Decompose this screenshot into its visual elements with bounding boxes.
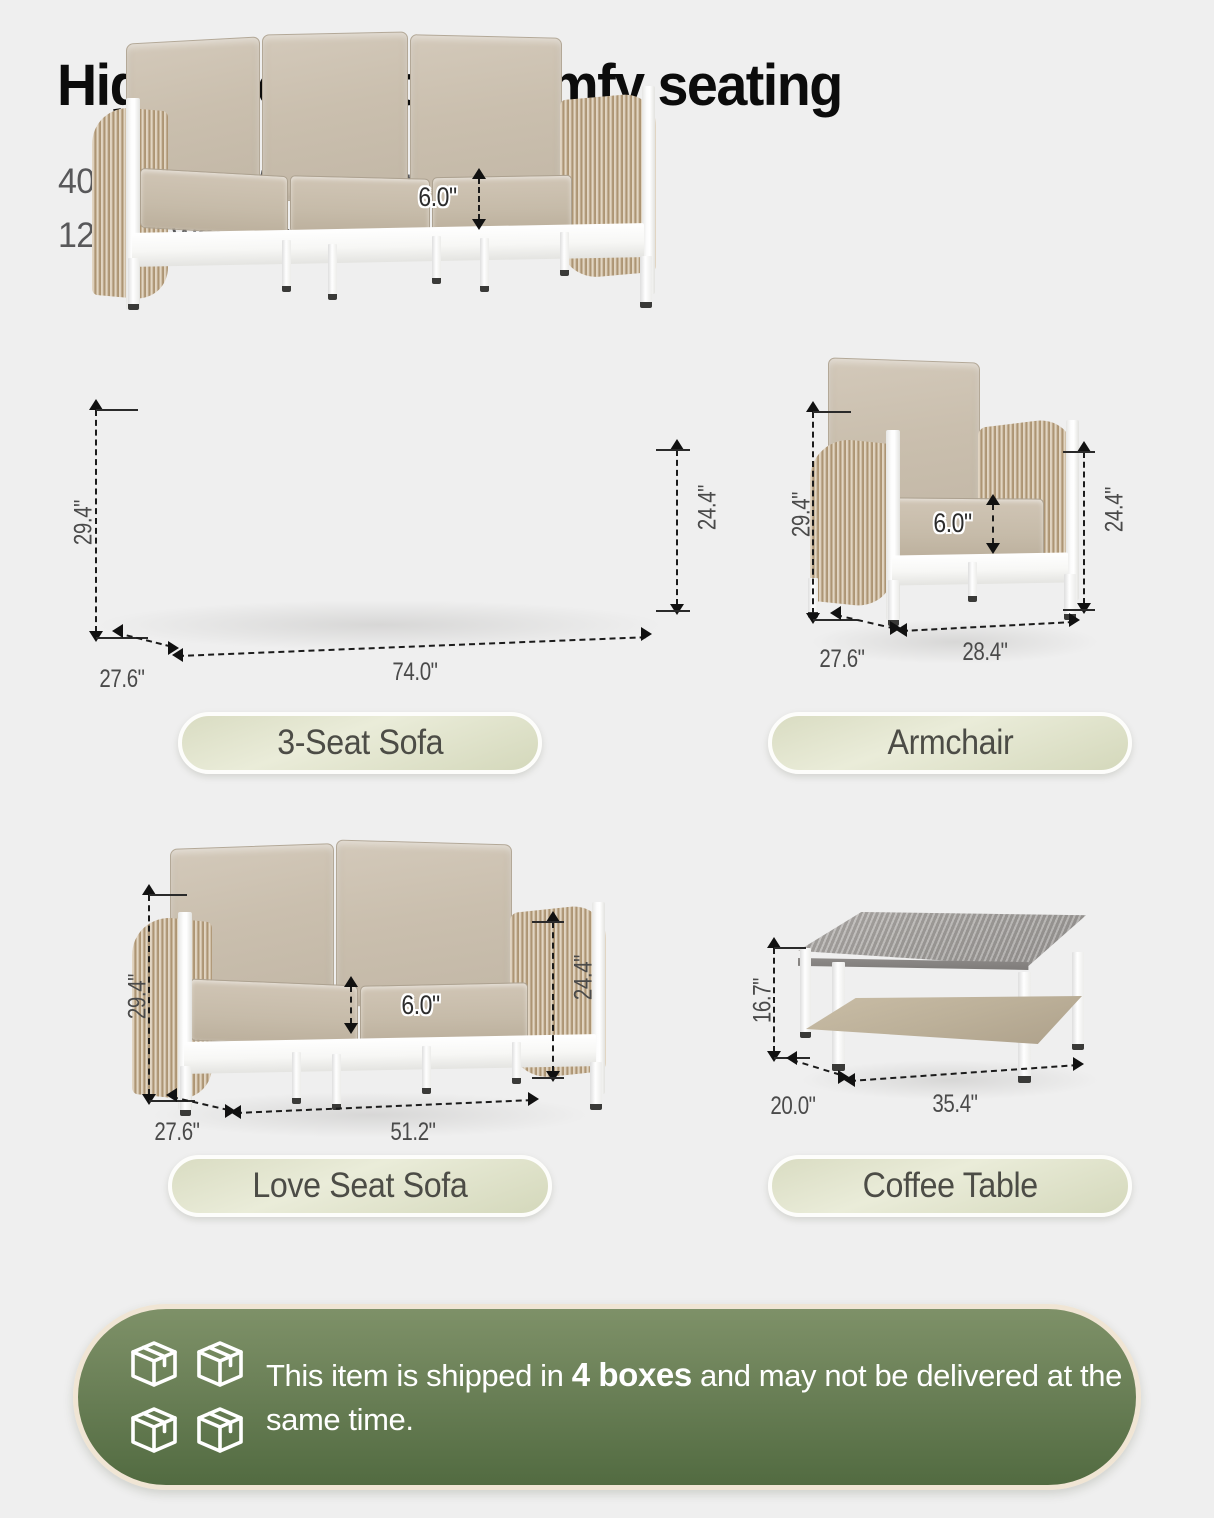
dim-depth-sofa: 27.6" <box>77 665 167 694</box>
dim-depth-table: 20.0" <box>748 1092 838 1121</box>
dim-width-arrow-b-table <box>1073 1057 1084 1071</box>
foot-3 <box>968 596 977 602</box>
leg-3 <box>332 1054 341 1108</box>
dim-seat-height-sofa: 24.4" <box>694 467 723 549</box>
dim-height-tick-top-armchair <box>813 411 851 413</box>
shipping-message: This item is shipped in 4 boxes and may … <box>266 1352 1136 1443</box>
dim-width-arrow-b-loveseat <box>528 1092 539 1106</box>
package-box-icon <box>124 1334 184 1394</box>
label-text: Armchair <box>887 723 1013 763</box>
foot-3 <box>328 294 337 300</box>
dim-cushion-arrow-down-loveseat <box>344 1023 358 1034</box>
dim-height-sofa: 29.4" <box>70 482 99 564</box>
stone-tabletop <box>798 912 1086 966</box>
infographic-page: High Backrest & Comfy seating 400 lbs we… <box>0 0 1214 1518</box>
leg-1 <box>888 580 899 624</box>
foot-4 <box>422 1088 431 1094</box>
dim-width-armchair: 28.4" <box>940 638 1030 667</box>
dim-seat-tick-bot-loveseat <box>532 1077 564 1079</box>
dim-cushion-arrow-up-armchair <box>986 494 1000 505</box>
leg-6 <box>560 232 569 274</box>
label-coffee-table[interactable]: Coffee Table <box>768 1155 1132 1217</box>
dim-seat-line-armchair <box>1083 452 1085 604</box>
table-foot-back-left <box>800 1032 811 1038</box>
seat-cushion-right <box>360 982 528 1044</box>
product-three-seat-sofa: 6.0" <box>0 0 720 380</box>
dim-seat-tick-top-armchair <box>1063 451 1095 453</box>
dim-depth-loveseat: 27.6" <box>132 1118 222 1147</box>
dim-width-arrow-a-armchair <box>896 623 907 637</box>
foot-1 <box>128 304 139 310</box>
leg-1 <box>180 1066 191 1114</box>
package-box-icon <box>124 1400 184 1460</box>
dim-cushion-line-loveseat <box>350 986 352 1024</box>
leg-3 <box>328 244 337 298</box>
dim-seat-height-loveseat: 24.4" <box>570 937 599 1019</box>
seat-cushion-left <box>190 978 358 1047</box>
dim-cushion-sofa: 6.0" <box>418 182 456 213</box>
dim-width-loveseat: 51.2" <box>368 1118 458 1147</box>
dim-height-tick-top-loveseat <box>149 894 187 896</box>
dim-seat-line-sofa <box>676 450 678 605</box>
leg-5 <box>480 238 489 290</box>
table-foot-back-right <box>1072 1044 1084 1050</box>
foot-2 <box>292 1098 301 1104</box>
leg-3 <box>968 562 977 600</box>
label-text: Coffee Table <box>862 1166 1037 1206</box>
dim-depth-arrow-a-armchair <box>830 606 841 620</box>
dim-cushion-line-sofa <box>478 178 480 220</box>
package-box-icon <box>190 1334 250 1394</box>
foot-1 <box>180 1110 191 1116</box>
foot-5 <box>480 286 489 292</box>
dim-seat-line-loveseat <box>552 922 554 1072</box>
leg-2 <box>282 240 291 290</box>
dim-height-loveseat: 29.4" <box>124 956 153 1038</box>
dim-seat-tick-bot-sofa <box>656 610 690 612</box>
dim-depth-arrow-a-table <box>786 1051 797 1065</box>
lower-shelf <box>806 996 1082 1046</box>
dim-height-tick-top-sofa <box>96 409 138 411</box>
dim-width-arrow-b-sofa <box>641 627 652 641</box>
foot-4 <box>432 278 441 284</box>
leg-2 <box>292 1052 301 1102</box>
dim-height-table: 16.7" <box>749 960 778 1042</box>
label-text: Love Seat Sofa <box>252 1166 467 1206</box>
dim-width-arrow-a-sofa <box>172 648 183 662</box>
foot-5 <box>512 1078 521 1084</box>
label-text: 3-Seat Sofa <box>277 723 443 763</box>
dim-width-table: 35.4" <box>910 1090 1000 1119</box>
table-leg-back-left <box>800 948 811 1036</box>
dim-seat-tick-top-loveseat <box>532 921 564 923</box>
foot-6 <box>560 270 569 276</box>
seat-cushion-left <box>140 168 288 236</box>
foot-6 <box>590 1104 602 1110</box>
dim-width-arrow-a-loveseat <box>230 1105 241 1119</box>
frame-rail-front <box>892 552 1068 585</box>
dim-depth-arrow-a-loveseat <box>166 1088 177 1102</box>
dim-cushion-arrow-up-sofa <box>472 168 486 179</box>
leg-5 <box>512 1042 521 1082</box>
dim-cushion-arrow-down-armchair <box>986 543 1000 554</box>
dim-cushion-arrow-up-loveseat <box>344 976 358 987</box>
dim-seat-tick-top-sofa <box>656 449 690 451</box>
leg-4 <box>422 1046 431 1092</box>
rope-arm-left <box>810 436 894 610</box>
leg-6 <box>590 1062 602 1108</box>
floor-shadow <box>95 600 665 650</box>
leg-4 <box>1064 574 1076 618</box>
dim-depth-armchair: 27.6" <box>797 645 887 674</box>
foot-7 <box>640 302 652 308</box>
label-three-seat-sofa[interactable]: 3-Seat Sofa <box>178 712 542 774</box>
dim-depth-arrow-a-sofa <box>112 624 123 638</box>
dim-width-arrow-a-table <box>844 1073 855 1087</box>
dim-height-armchair: 29.4" <box>788 474 817 556</box>
label-love-seat-sofa[interactable]: Love Seat Sofa <box>168 1155 552 1217</box>
dim-height-tick-top-table <box>774 947 806 949</box>
shipping-icons <box>124 1334 250 1460</box>
dim-width-arrow-b-armchair <box>1069 613 1080 627</box>
label-armchair[interactable]: Armchair <box>768 712 1132 774</box>
dim-cushion-armchair: 6.0" <box>933 508 971 539</box>
leg-7 <box>640 256 652 306</box>
shipping-box-count: 4 boxes <box>572 1356 692 1393</box>
dim-width-sofa: 74.0" <box>370 658 460 687</box>
leg-4 <box>432 236 441 282</box>
shipping-text-before: This item is shipped in <box>266 1358 572 1393</box>
dim-cushion-loveseat: 6.0" <box>401 990 439 1021</box>
shipping-banner: This item is shipped in 4 boxes and may … <box>73 1304 1141 1490</box>
dim-cushion-arrow-down-sofa <box>472 219 486 230</box>
dim-cushion-line-armchair <box>992 504 994 544</box>
dim-seat-tick-bot-armchair <box>1063 609 1095 611</box>
package-box-icon <box>190 1400 250 1460</box>
dim-seat-height-armchair: 24.4" <box>1101 469 1130 551</box>
leg-1 <box>128 258 139 308</box>
foot-2 <box>282 286 291 292</box>
table-foot-front-right <box>1018 1076 1031 1083</box>
